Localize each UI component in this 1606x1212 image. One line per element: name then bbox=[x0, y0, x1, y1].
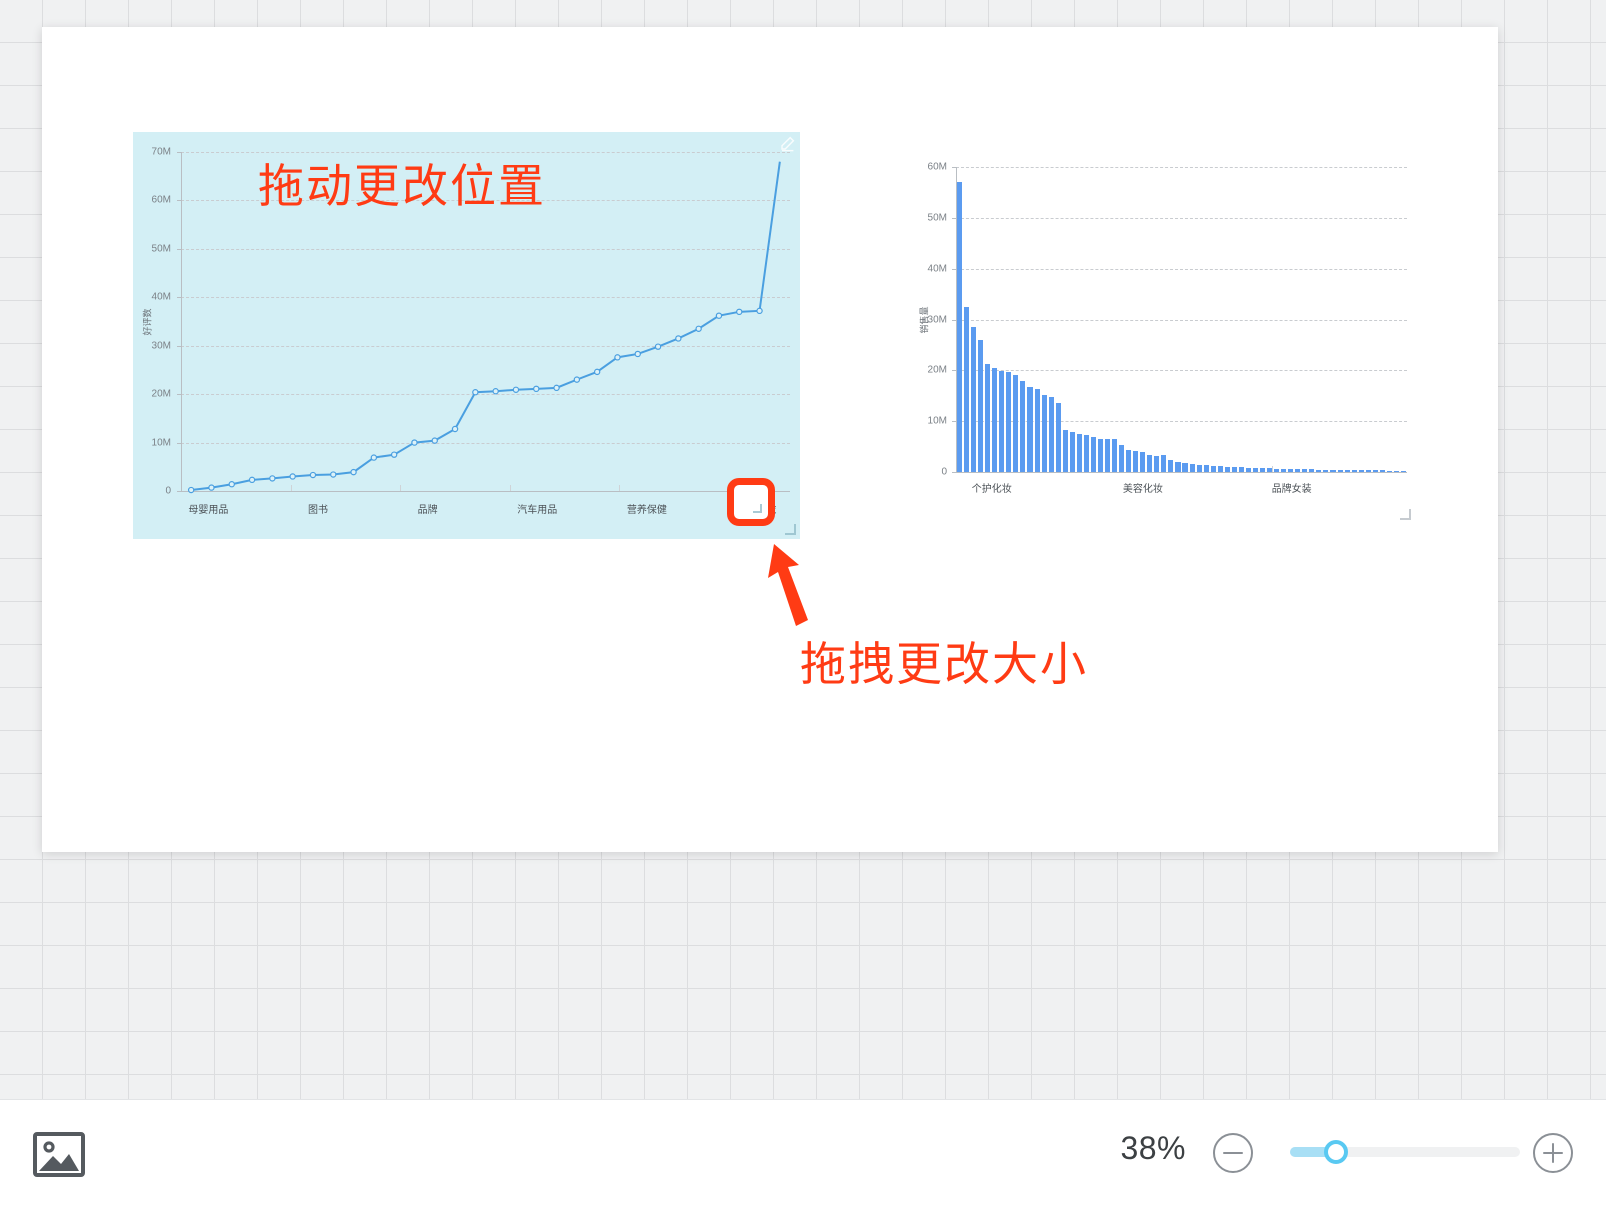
bar-item bbox=[1175, 462, 1180, 472]
y-axis-tick-label: 60M bbox=[910, 162, 947, 173]
bar-item bbox=[1182, 463, 1187, 472]
resize-corner-icon bbox=[753, 504, 762, 513]
bar-item bbox=[1246, 468, 1251, 472]
bar-item bbox=[1070, 432, 1075, 472]
bar-item bbox=[1020, 381, 1025, 472]
y-gridline bbox=[956, 370, 1407, 371]
x-axis-tick-label: 品牌女装 bbox=[1272, 480, 1312, 495]
x-axis-tick-label: 美容化妆 bbox=[1123, 480, 1163, 495]
y-tick-mark bbox=[952, 421, 956, 422]
y-gridline bbox=[956, 320, 1407, 321]
bar-item bbox=[1373, 470, 1378, 472]
bar-item bbox=[1345, 470, 1350, 472]
bar-item bbox=[1260, 468, 1265, 472]
bottom-toolbar: 38% bbox=[0, 1099, 1606, 1212]
bar-item bbox=[1380, 470, 1385, 472]
bar-item bbox=[1161, 455, 1166, 472]
bar-item bbox=[1352, 470, 1357, 472]
bar-item bbox=[1253, 468, 1258, 472]
bar-item bbox=[1281, 469, 1286, 472]
bar-item bbox=[1042, 395, 1047, 472]
bar-item bbox=[1338, 470, 1343, 472]
bar-item bbox=[964, 307, 969, 472]
bar-item bbox=[978, 340, 983, 472]
zoom-slider-handle[interactable] bbox=[1324, 1140, 1348, 1164]
y-axis-tick-label: 50M bbox=[910, 212, 947, 223]
canvas-background[interactable]: 010M20M30M40M50M60M70M母婴用品图书品牌汽车用品营养保健服饰… bbox=[0, 0, 1606, 1100]
annotation-resize-hint: 拖拽更改大小 bbox=[800, 628, 1088, 694]
y-tick-mark bbox=[952, 167, 956, 168]
y-gridline bbox=[956, 167, 1407, 168]
plus-icon-vertical bbox=[1552, 1143, 1554, 1163]
bar-item bbox=[1006, 372, 1011, 472]
minus-icon bbox=[1223, 1152, 1243, 1154]
bar-item bbox=[985, 364, 990, 472]
bar-item bbox=[1267, 468, 1272, 472]
x-axis-line bbox=[956, 472, 1407, 473]
zoom-out-button[interactable] bbox=[1213, 1133, 1253, 1173]
bar-item bbox=[1154, 456, 1159, 472]
bar-item bbox=[1316, 470, 1321, 472]
bar-item bbox=[1013, 375, 1018, 472]
bar-item bbox=[1366, 470, 1371, 472]
y-gridline bbox=[956, 269, 1407, 270]
edit-pencil-icon[interactable] bbox=[779, 136, 795, 152]
bar-item bbox=[1295, 469, 1300, 472]
y-axis-tick-label: 20M bbox=[910, 365, 947, 376]
bar-item bbox=[1133, 451, 1138, 472]
bar-item bbox=[1309, 469, 1314, 472]
zoom-level-label: 38% bbox=[1076, 1130, 1186, 1167]
bar-item bbox=[1098, 439, 1103, 472]
y-axis-title: 销售量 bbox=[918, 306, 931, 333]
bar-item bbox=[1035, 389, 1040, 472]
bar-item bbox=[1056, 403, 1061, 472]
bar-item bbox=[1105, 439, 1110, 472]
bar-item bbox=[957, 182, 962, 472]
bar-item bbox=[1387, 471, 1392, 472]
resize-handle-highlight bbox=[727, 478, 775, 526]
bar-item bbox=[1218, 466, 1223, 472]
y-tick-mark bbox=[952, 370, 956, 371]
bar-item bbox=[1119, 445, 1124, 472]
bar-item bbox=[1359, 470, 1364, 472]
bar-item bbox=[1077, 434, 1082, 472]
bar-chart-widget[interactable]: 010M20M30M40M50M60M个护化妆美容化妆品牌女装销售量 bbox=[910, 149, 1415, 524]
bar-item bbox=[1084, 435, 1089, 472]
bar-item bbox=[1401, 471, 1406, 472]
bar-item bbox=[1323, 470, 1328, 472]
bar-item bbox=[1330, 470, 1335, 472]
bar-item bbox=[1225, 467, 1230, 472]
bar-item bbox=[992, 368, 997, 472]
zoom-slider[interactable] bbox=[1290, 1147, 1520, 1157]
bar-item bbox=[1140, 452, 1145, 472]
bar-item bbox=[1232, 467, 1237, 472]
bar-item bbox=[1027, 387, 1032, 472]
bar-item bbox=[1190, 464, 1195, 472]
bar-item bbox=[1063, 430, 1068, 472]
chart-resize-handle[interactable] bbox=[785, 524, 796, 535]
bar-item bbox=[1197, 465, 1202, 472]
y-axis-tick-label: 10M bbox=[910, 416, 947, 427]
bar-item bbox=[1211, 466, 1216, 472]
image-icon bbox=[33, 1132, 85, 1177]
bar-item bbox=[1049, 397, 1054, 472]
x-axis-tick-label: 个护化妆 bbox=[972, 480, 1012, 495]
y-axis-tick-label: 40M bbox=[910, 263, 947, 274]
bar-item bbox=[1204, 465, 1209, 472]
annotation-arrow-icon bbox=[752, 538, 832, 628]
bar-item bbox=[1288, 469, 1293, 472]
bar-item bbox=[1126, 450, 1131, 472]
bar-item bbox=[1112, 439, 1117, 472]
zoom-in-button[interactable] bbox=[1533, 1133, 1573, 1173]
bar-chart-resize-handle[interactable] bbox=[1400, 509, 1411, 520]
bar-chart-plot: 010M20M30M40M50M60M个护化妆美容化妆品牌女装销售量 bbox=[910, 149, 1415, 524]
bar-item bbox=[1394, 471, 1399, 472]
bar-item bbox=[971, 327, 976, 472]
bar-item bbox=[1274, 469, 1279, 472]
bar-item bbox=[999, 371, 1004, 472]
y-tick-mark bbox=[952, 269, 956, 270]
bar-item bbox=[1302, 469, 1307, 472]
bar-item bbox=[1091, 437, 1096, 472]
y-tick-mark bbox=[952, 320, 956, 321]
y-tick-mark bbox=[952, 218, 956, 219]
y-axis-tick-label: 0 bbox=[910, 467, 947, 478]
bar-item bbox=[1147, 455, 1152, 472]
annotation-move-hint: 拖动更改位置 bbox=[258, 150, 546, 216]
y-gridline bbox=[956, 218, 1407, 219]
insert-image-button[interactable] bbox=[33, 1132, 85, 1177]
bar-item bbox=[1239, 467, 1244, 472]
bar-item bbox=[1168, 460, 1173, 472]
